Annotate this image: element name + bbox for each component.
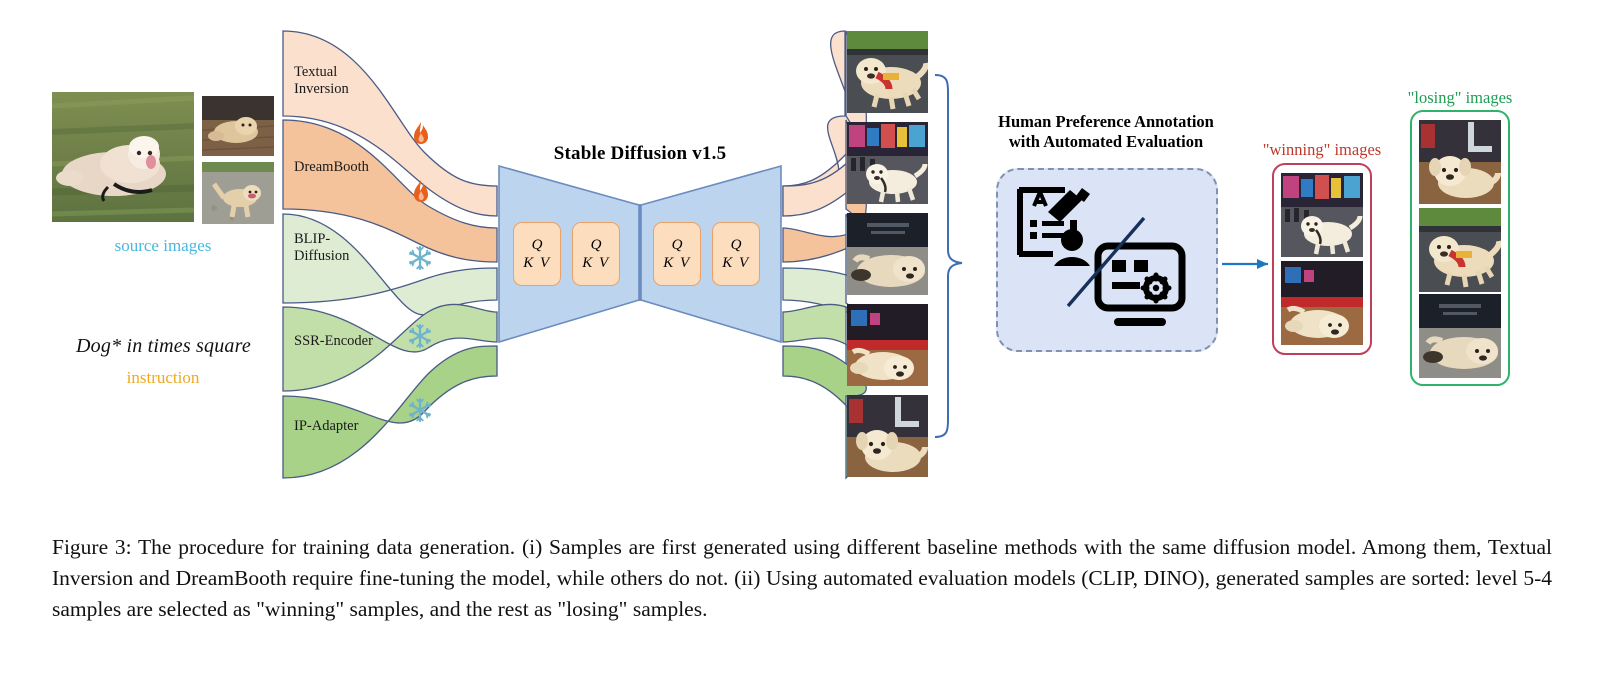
losing-image-2 bbox=[1419, 208, 1501, 292]
winning-images-box bbox=[1272, 163, 1372, 355]
annotation-title: Human Preference Annotation with Automat… bbox=[956, 112, 1256, 152]
losing-image-3 bbox=[1419, 294, 1501, 378]
snowflake-icon bbox=[407, 245, 433, 271]
winning-image-2 bbox=[1281, 261, 1363, 345]
losing-image-1 bbox=[1419, 120, 1501, 204]
generated-sample-1 bbox=[847, 31, 928, 113]
losing-images-box bbox=[1410, 110, 1510, 386]
snowflake-icon bbox=[407, 323, 433, 349]
winning-images-label: "winning" images bbox=[1243, 140, 1401, 160]
winning-image-1 bbox=[1281, 173, 1363, 257]
fire-icon bbox=[409, 122, 433, 150]
method-label-blip-diffusion: BLIP- Diffusion bbox=[294, 231, 349, 265]
generated-sample-3 bbox=[847, 213, 928, 295]
generated-sample-4 bbox=[847, 304, 928, 386]
attention-block-2: Q K V bbox=[572, 222, 620, 286]
attention-block-4: Q K V bbox=[712, 222, 760, 286]
generated-samples-group bbox=[847, 31, 929, 478]
method-label-dreambooth: DreamBooth bbox=[294, 159, 369, 176]
generated-sample-5 bbox=[847, 395, 928, 477]
generated-sample-2 bbox=[847, 122, 928, 204]
snowflake-icon bbox=[407, 397, 433, 423]
method-label-textual-inversion: Textual Inversion bbox=[294, 64, 349, 98]
unet-title: Stable Diffusion v1.5 bbox=[490, 143, 790, 165]
annotation-to-winning-arrow bbox=[1222, 259, 1268, 269]
attention-block-3: Q K V bbox=[653, 222, 701, 286]
method-label-ssr-encoder: SSR-Encoder bbox=[294, 333, 373, 350]
attention-block-1: Q K V bbox=[513, 222, 561, 286]
method-label-ip-adapter: IP-Adapter bbox=[294, 418, 358, 435]
figure-3-diagram: source images Dog* in times square instr… bbox=[0, 0, 1603, 520]
losing-images-label: "losing" images bbox=[1385, 88, 1535, 108]
divider-slash-icon bbox=[1060, 212, 1152, 312]
figure-caption: Figure 3: The procedure for training dat… bbox=[52, 532, 1552, 625]
annotation-box bbox=[996, 168, 1218, 352]
fire-icon bbox=[409, 180, 433, 208]
